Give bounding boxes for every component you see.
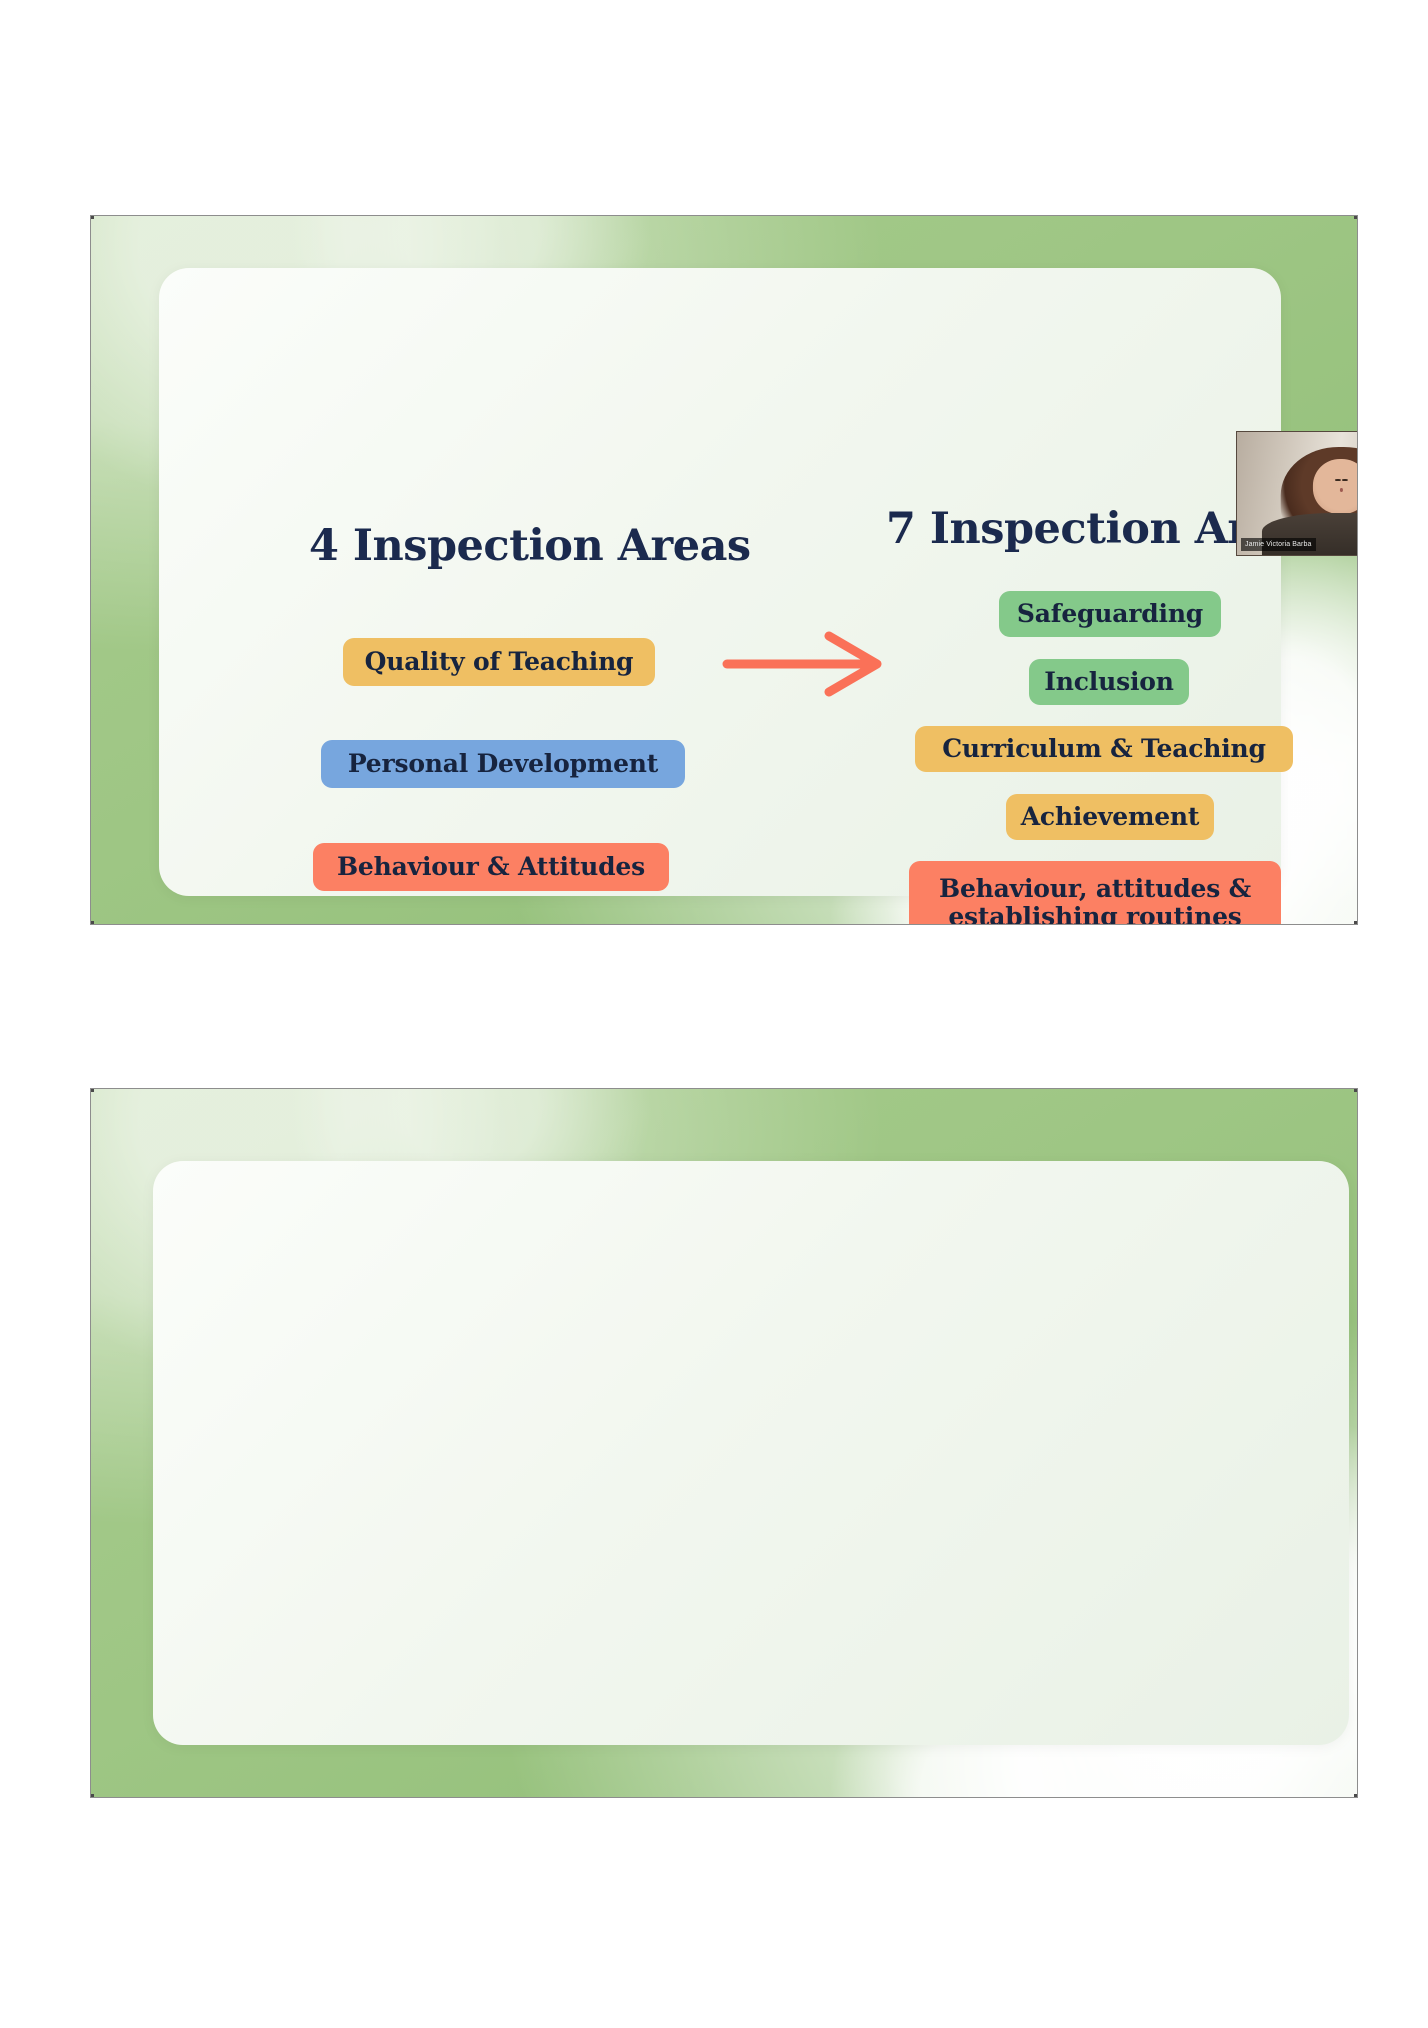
slide-1-transition-arrow [721,626,901,696]
chip-safeguarding[interactable]: Safeguarding [999,591,1221,637]
slide-1: 4 Inspection Areas 7 Inspection Areas Qu… [90,215,1358,925]
slide-1-corner-dot-br [1354,921,1357,924]
chip-curriculum-and-teaching[interactable]: Curriculum & Teaching [915,726,1293,772]
slide-1-corner-dot-tl [91,216,94,219]
presenter-eye-right-slide-1 [1342,479,1348,481]
slide-1-corner-dot-tr [1354,216,1357,219]
chip-behaviour-and-attitudes[interactable]: Behaviour & Attitudes [313,843,669,891]
chip-quality-of-teaching[interactable]: Quality of Teaching [343,638,655,686]
presenter-face-slide-1 [1313,459,1358,514]
presenter-eye-left-slide-1 [1335,479,1341,481]
presenter-name-label-slide-1: Jamie Victoria Barba [1241,538,1316,551]
slide-2-corner-dot-br [1354,1794,1357,1797]
presenter-webcam-slide-1[interactable]: Jamie Victoria Barba [1236,431,1358,556]
document-page: 4 Inspection Areas 7 Inspection Areas Qu… [0,0,1428,2028]
chip-achievement[interactable]: Achievement [1006,794,1214,840]
slide-2-card [153,1161,1349,1745]
chip-behaviour-attitudes-establishing-routines[interactable]: Behaviour, attitudes & establishing rout… [909,861,1281,925]
chip-inclusion[interactable]: Inclusion [1029,659,1189,705]
slide-2: Safeguarding is either... Effective Not … [90,1088,1358,1798]
slide-1-corner-dot-bl [91,921,94,924]
presenter-mouth-slide-1 [1340,488,1343,492]
slide-2-corner-dot-tr [1354,1089,1357,1092]
slide-2-corner-dot-bl [91,1794,94,1797]
chip-personal-development[interactable]: Personal Development [321,740,685,788]
slide-1-left-title: 4 Inspection Areas [309,521,751,571]
slide-2-corner-dot-tl [91,1089,94,1092]
